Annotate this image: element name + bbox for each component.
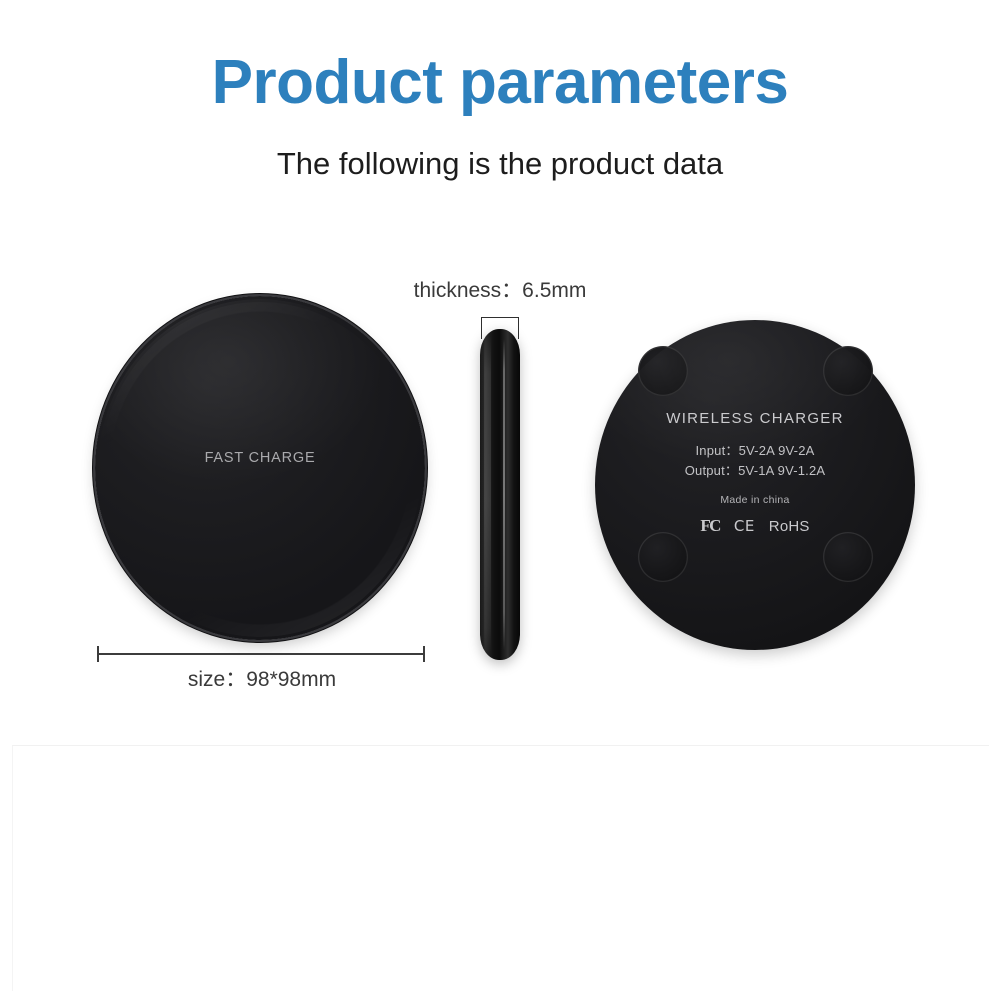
charger-bottom-view: WIRELESS CHARGER Input：5V-2A 9V-2A Outpu…	[595, 320, 915, 650]
lower-panel	[12, 745, 989, 991]
fcc-icon: FC	[700, 516, 719, 536]
rubber-foot-top-right	[823, 346, 873, 396]
charger-side-view	[480, 329, 520, 660]
charger-top-view: FAST CHARGE	[95, 296, 425, 640]
certification-row: FC CE RoHS	[595, 516, 915, 536]
rubber-foot-bottom-right	[823, 532, 873, 582]
thickness-tick-right	[518, 317, 519, 339]
thickness-tick-left	[481, 317, 482, 339]
size-dimension-line	[97, 646, 425, 662]
origin-label: Made in china	[595, 494, 915, 506]
rohs-icon: RoHS	[769, 518, 810, 535]
rubber-foot-bottom-left	[638, 532, 688, 582]
output-spec-label: Output：5V-1A 9V-1.2A	[595, 461, 915, 481]
fast-charge-label: FAST CHARGE	[95, 450, 425, 466]
dimension-rule	[97, 653, 425, 655]
ce-icon: CE	[734, 517, 755, 535]
product-name-label: WIRELESS CHARGER	[595, 410, 915, 427]
dimension-tick-right	[423, 646, 425, 662]
size-label: size：98*98mm	[77, 663, 447, 693]
back-label-block: WIRELESS CHARGER Input：5V-2A 9V-2A Outpu…	[595, 410, 915, 536]
input-spec-label: Input：5V-2A 9V-2A	[595, 441, 915, 461]
rubber-foot-top-left	[638, 346, 688, 396]
thickness-label: thickness：6.5mm	[330, 274, 670, 304]
thickness-rule	[481, 317, 519, 318]
